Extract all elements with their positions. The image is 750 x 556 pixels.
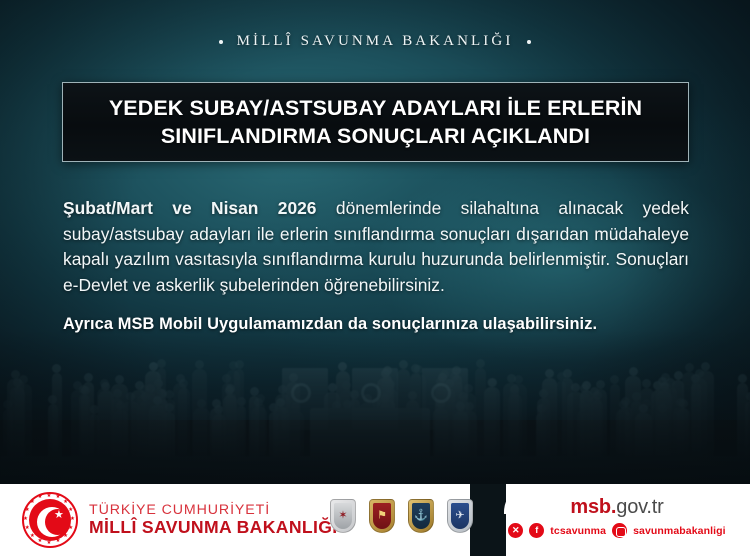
seal-mini-star-icon: ★	[63, 533, 68, 539]
bullet-dot-icon	[527, 40, 531, 44]
seal-mini-star-icon: ★	[68, 525, 73, 531]
facebook-icon[interactable]: f	[529, 523, 544, 538]
instagram-icon[interactable]	[612, 523, 627, 538]
poster-canvas: MİLLÎ SAVUNMA BAKANLIĞI YEDEK SUBAY/ASTS…	[0, 0, 750, 556]
seal-mini-star-icon: ★	[25, 507, 30, 513]
brand-text: TÜRKİYE CUMHURİYETİ MİLLÎ SAVUNMA BAKANL…	[89, 503, 337, 537]
deniz-kuvvetleri-komutanligi-crest: ⚓	[408, 499, 434, 533]
announcement-body: Şubat/Mart ve Nisan 2026 dönemlerinde si…	[63, 196, 689, 298]
headline-box: YEDEK SUBAY/ASTSUBAY ADAYLARI İLE ERLERİ…	[62, 82, 689, 162]
brand-line-2: MİLLÎ SAVUNMA BAKANLIĞI	[89, 518, 337, 537]
crest-glyph: ⚑	[377, 511, 387, 522]
social-links: ✕ f tcsavunma savunmabakanligi	[502, 523, 732, 538]
seal-mini-star-icon: ★	[30, 533, 35, 539]
web-contact-block: msb.gov.tr ✕ f tcsavunma savunmabakanlig…	[502, 496, 732, 538]
social-handle-instagram[interactable]: savunmabakanligi	[633, 525, 726, 537]
seal-mini-star-icon: ★	[46, 493, 51, 499]
seal-mini-star-icon: ★	[70, 516, 75, 522]
headline-line-2: SINIFLANDIRMA SONUÇLARI AÇIKLANDI	[161, 124, 590, 149]
website-url[interactable]: msb.gov.tr	[502, 496, 732, 518]
seal-mini-stars: ★★★★★★★★★★★★★★★★	[24, 494, 76, 546]
crest-glyph: ⚓	[414, 511, 428, 522]
seal-mini-star-icon: ★	[25, 525, 30, 531]
mobile-app-note: Ayrıca MSB Mobil Uygulamamızdan da sonuç…	[63, 315, 689, 334]
ministry-eyebrow: MİLLÎ SAVUNMA BAKANLIĞI	[0, 33, 750, 50]
seal-mini-star-icon: ★	[30, 499, 35, 505]
footer-bar: ★ ★★★★★★★★★★★★★★★★ TÜRKİYE CUMHURİYETİ M…	[0, 484, 750, 556]
hava-kuvvetleri-komutanligi-crest: ✈	[447, 499, 473, 533]
seal-mini-star-icon: ★	[63, 499, 68, 505]
seal-mini-star-icon: ★	[23, 516, 28, 522]
announcement-lead: Şubat/Mart ve Nisan 2026	[63, 198, 316, 218]
crest-glyph: ✈	[455, 511, 464, 522]
ministry-brand-lockup: ★ ★★★★★★★★★★★★★★★★ TÜRKİYE CUMHURİYETİ M…	[22, 492, 337, 548]
website-url-bold: msb.	[570, 496, 616, 518]
eyebrow-label: MİLLÎ SAVUNMA BAKANLIĞI	[237, 33, 514, 50]
kara-kuvvetleri-komutanligi-crest: ⚑	[369, 499, 395, 533]
brand-line-1: TÜRKİYE CUMHURİYETİ	[89, 503, 337, 518]
seal-mini-star-icon: ★	[37, 494, 42, 500]
crest-glyph: ✶	[338, 511, 347, 522]
announcement-paragraph: Şubat/Mart ve Nisan 2026 dönemlerinde si…	[63, 196, 689, 298]
website-url-rest: gov.tr	[616, 496, 663, 518]
headline-line-1: YEDEK SUBAY/ASTSUBAY ADAYLARI İLE ERLERİ…	[109, 96, 642, 121]
bullet-dot-icon	[219, 40, 223, 44]
seal-mini-star-icon: ★	[37, 538, 42, 544]
footer-notch-divider	[470, 484, 506, 556]
seal-mini-star-icon: ★	[68, 507, 73, 513]
turkish-crescent-star-seal-icon: ★ ★★★★★★★★★★★★★★★★	[22, 492, 78, 548]
seal-mini-star-icon: ★	[55, 538, 60, 544]
force-crests-group: ✶ ⚑ ⚓ ✈	[330, 499, 473, 533]
x-twitter-icon[interactable]: ✕	[508, 523, 523, 538]
seal-mini-star-icon: ★	[46, 540, 51, 546]
genelkurmay-baskanligi-crest: ✶	[330, 499, 356, 533]
seal-mini-star-icon: ★	[55, 494, 60, 500]
social-handle-twitter-facebook[interactable]: tcsavunma	[550, 525, 606, 537]
